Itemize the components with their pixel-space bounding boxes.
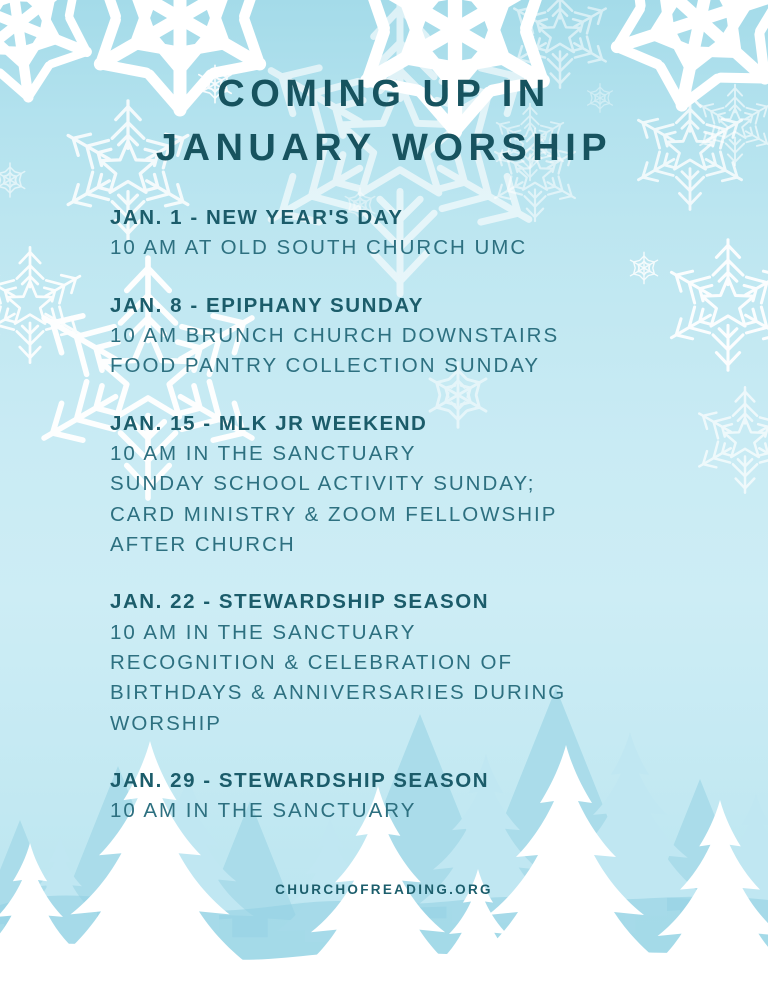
event-heading: JAN. 1 - NEW YEAR'S DAY (110, 203, 710, 233)
list-item: JAN. 15 - MLK JR WEEKEND 10 AM IN THE SA… (110, 409, 710, 561)
website-url[interactable]: CHURCHOFREADING.ORG (0, 882, 768, 897)
page-title-line-1: COMING UP IN (0, 68, 768, 122)
poster-canvas: COMING UP IN JANUARY WORSHIP JAN. 1 - NE… (0, 0, 768, 994)
event-detail: FOOD PANTRY COLLECTION SUNDAY (110, 351, 710, 381)
list-item: JAN. 8 - EPIPHANY SUNDAY 10 AM BRUNCH CH… (110, 291, 710, 382)
event-detail: SUNDAY SCHOOL ACTIVITY SUNDAY; (110, 469, 710, 499)
event-heading: JAN. 29 - STEWARDSHIP SEASON (110, 766, 710, 796)
event-list: JAN. 1 - NEW YEAR'S DAY 10 AM AT OLD SOU… (110, 203, 710, 827)
event-detail: 10 AM IN THE SANCTUARY (110, 439, 710, 469)
page-title-line-2: JANUARY WORSHIP (0, 122, 768, 176)
list-item: JAN. 1 - NEW YEAR'S DAY 10 AM AT OLD SOU… (110, 203, 710, 264)
event-detail: 10 AM IN THE SANCTUARY (110, 618, 710, 648)
event-detail: CARD MINISTRY & ZOOM FELLOWSHIP (110, 500, 710, 530)
event-heading: JAN. 15 - MLK JR WEEKEND (110, 409, 710, 439)
event-detail: BIRTHDAYS & ANNIVERSARIES DURING (110, 678, 710, 708)
event-detail: 10 AM AT OLD SOUTH CHURCH UMC (110, 233, 710, 263)
event-detail: 10 AM IN THE SANCTUARY (110, 796, 710, 826)
event-heading: JAN. 8 - EPIPHANY SUNDAY (110, 291, 710, 321)
page-title: COMING UP IN JANUARY WORSHIP (0, 68, 768, 176)
event-detail: AFTER CHURCH (110, 530, 710, 560)
list-item: JAN. 29 - STEWARDSHIP SEASON 10 AM IN TH… (110, 766, 710, 827)
event-detail: 10 AM BRUNCH CHURCH DOWNSTAIRS (110, 321, 710, 351)
event-heading: JAN. 22 - STEWARDSHIP SEASON (110, 587, 710, 617)
poster-content: COMING UP IN JANUARY WORSHIP JAN. 1 - NE… (0, 0, 768, 994)
event-detail: WORSHIP (110, 709, 710, 739)
event-detail: RECOGNITION & CELEBRATION OF (110, 648, 710, 678)
list-item: JAN. 22 - STEWARDSHIP SEASON 10 AM IN TH… (110, 587, 710, 739)
